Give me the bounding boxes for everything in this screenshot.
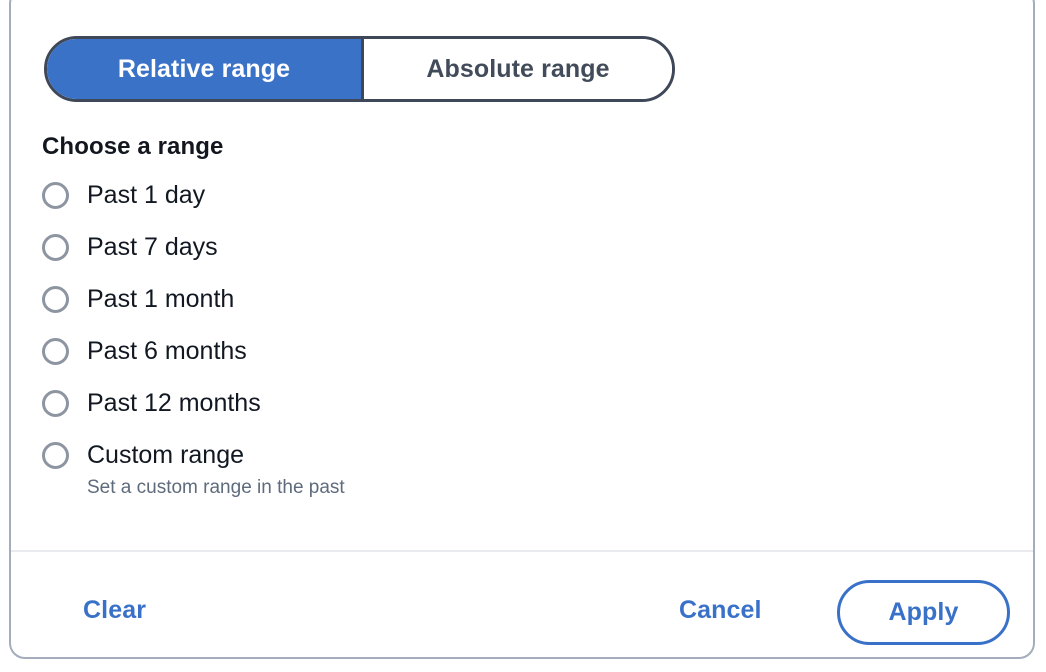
radio-option-past-1-month[interactable]: Past 1 month: [42, 280, 742, 332]
dialog-footer: Clear Cancel Apply: [11, 552, 1033, 659]
radio-circle-icon[interactable]: [42, 182, 69, 209]
radio-option-past-7-days[interactable]: Past 7 days: [42, 228, 742, 280]
apply-button[interactable]: Apply: [837, 580, 1010, 645]
radio-option-texts: Past 1 day: [87, 176, 205, 214]
tab-absolute-range[interactable]: Absolute range: [361, 39, 672, 99]
radio-circle-icon[interactable]: [42, 338, 69, 365]
radio-option-label: Past 7 days: [87, 233, 218, 261]
radio-circle-icon[interactable]: [42, 234, 69, 261]
radio-option-label: Past 6 months: [87, 337, 247, 365]
radio-option-texts: Past 6 months: [87, 332, 247, 370]
cancel-button[interactable]: Cancel: [679, 596, 762, 625]
radio-option-label: Past 1 day: [87, 181, 205, 209]
radio-option-texts: Past 7 days: [87, 228, 218, 266]
page-title: Choose a range: [42, 133, 223, 161]
tab-relative-range[interactable]: Relative range: [47, 39, 361, 99]
radio-option-past-12-months[interactable]: Past 12 months: [42, 384, 742, 436]
radio-option-help-text: Set a custom range in the past: [87, 473, 345, 503]
radio-option-texts: Past 1 month: [87, 280, 234, 318]
radio-option-past-6-months[interactable]: Past 6 months: [42, 332, 742, 384]
radio-option-label: Custom range: [87, 441, 244, 469]
radio-option-past-1-day[interactable]: Past 1 day: [42, 176, 742, 228]
radio-circle-icon[interactable]: [42, 286, 69, 313]
radio-circle-icon[interactable]: [42, 442, 69, 469]
range-options-group: Past 1 day Past 7 days Past 1 month Past…: [42, 176, 742, 503]
clear-button[interactable]: Clear: [83, 596, 146, 625]
radio-option-label: Past 1 month: [87, 285, 234, 313]
radio-option-custom-range[interactable]: Custom range Set a custom range in the p…: [42, 436, 742, 503]
radio-option-texts: Past 12 months: [87, 384, 261, 422]
radio-option-label: Past 12 months: [87, 389, 261, 417]
date-range-picker-dialog: Relative range Absolute range Choose a r…: [9, 0, 1035, 659]
range-mode-segmented-control[interactable]: Relative range Absolute range: [44, 36, 675, 102]
radio-option-texts: Custom range Set a custom range in the p…: [87, 436, 345, 503]
radio-circle-icon[interactable]: [42, 390, 69, 417]
